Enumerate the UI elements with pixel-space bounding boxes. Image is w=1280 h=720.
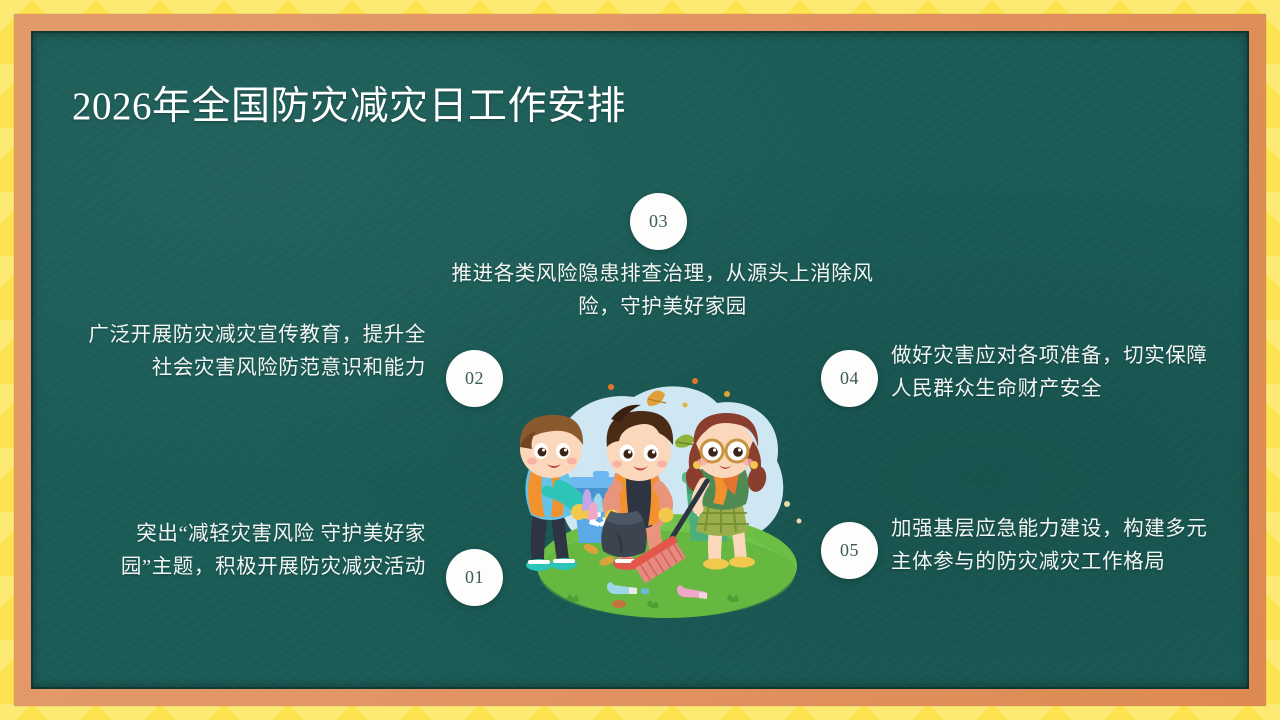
item-text-02: 广泛开展防灾减灾宣传教育，提升全社会灾害风险防范意识和能力 [86,319,426,385]
page-title: 2026年全国防灾减灾日工作安排 [72,83,626,132]
item-number-badge-05[interactable]: 05 [821,522,878,579]
item-number-badge-01[interactable]: 01 [446,549,503,606]
item-text-01: 突出“减轻灾害风险 守护美好家园”主题，积极开展防灾减灾活动 [91,518,426,584]
slide-root: 2026年全国防灾减灾日工作安排 [0,0,1280,720]
chalkboard-panel: 2026年全国防灾减灾日工作安排 [31,31,1249,689]
item-text-03: 推进各类风险隐患排查治理，从源头上消除风险，守护美好家园 [435,258,890,324]
item-text-05: 加强基层应急能力建设，构建多元主体参与的防灾减灾工作格局 [891,513,1221,579]
children-cleaning-recycling-illustration [499,361,829,646]
item-text-04: 做好灾害应对各项准备，切实保障人民群众生命财产安全 [891,340,1221,406]
item-number-badge-03[interactable]: 03 [630,193,687,250]
item-number-badge-02[interactable]: 02 [446,350,503,407]
item-number-badge-04[interactable]: 04 [821,350,878,407]
